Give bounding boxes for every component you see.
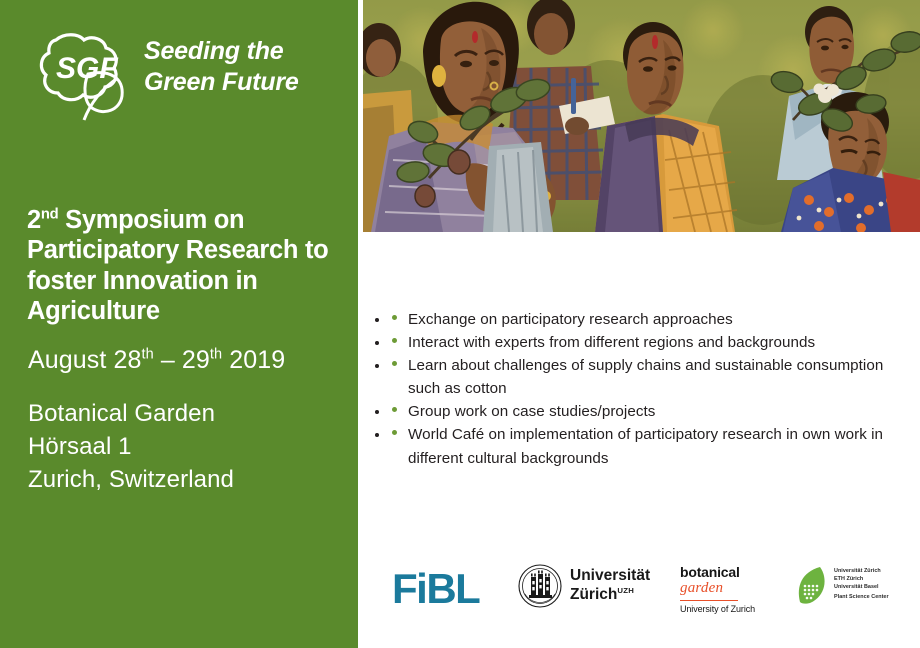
psc-center-name: Plant Science Center: [834, 594, 889, 602]
psc-wordmark: Universität Zürich ETH Zürich Universitä…: [834, 568, 889, 602]
sgf-tagline: Seeding the Green Future: [144, 36, 299, 97]
date-day-end-suffix: th: [210, 347, 222, 363]
uzh-name: Universität Zürich: [570, 567, 650, 603]
list-item: Exchange on participatory research appro…: [390, 308, 890, 331]
header-photograph: [363, 0, 920, 232]
uzh-seal-icon: [518, 564, 562, 608]
event-date: August 28th – 29th 2019: [28, 345, 348, 375]
page-title: 2nd Symposium on Participatory Research …: [27, 205, 347, 326]
uzh-wordmark: Universität ZürichUZH: [570, 567, 650, 605]
event-venue: Botanical Garden Hörsaal 1 Zurich, Switz…: [28, 398, 348, 497]
sgf-flower-leaf-icon: SGF: [26, 26, 134, 122]
date-day-start: 28: [113, 346, 141, 374]
title-rest: Symposium on Participatory Research to f…: [27, 206, 328, 325]
botanical-line-2: garden: [680, 580, 790, 597]
botanical-garden-logo: botanical garden University of Zurich: [680, 564, 790, 615]
date-day-start-suffix: th: [142, 347, 154, 363]
list-item-text: Learn about challenges of supply chains …: [408, 357, 883, 397]
psc-leaf-icon: [796, 566, 830, 604]
bullet-dot-icon: [392, 430, 397, 435]
highlights-list: Exchange on participatory research appro…: [390, 308, 890, 470]
list-item: Interact with experts from different reg…: [390, 331, 890, 354]
bullet-dot-icon: [392, 407, 397, 412]
date-month: August: [28, 346, 113, 374]
sgf-logo-block: SGF Seeding the Green Future: [26, 26, 336, 126]
botanical-line-3: University of Zurich: [680, 604, 790, 614]
list-item-text: Exchange on participatory research appro…: [408, 311, 733, 328]
uzh-abbrev: UZH: [617, 586, 634, 595]
psc-institutions: Universität Zürich ETH Zürich Universitä…: [834, 568, 881, 590]
list-item: Group work on case studies/projects: [390, 400, 890, 423]
date-day-end: 29: [182, 346, 210, 374]
title-superscript: nd: [41, 207, 58, 223]
list-item-text: Interact with experts from different reg…: [408, 334, 815, 351]
list-item-text: World Café on implementation of particip…: [408, 426, 883, 466]
symposium-poster: SGF Seeding the Green Future 2nd Symposi…: [0, 0, 920, 648]
sponsor-logos: FiBL: [388, 556, 900, 626]
date-year: 2019: [222, 346, 285, 374]
fibl-logo: FiBL: [392, 568, 479, 610]
plant-science-center-logo: Universität Zürich ETH Zürich Universitä…: [796, 566, 902, 608]
left-green-panel: SGF Seeding the Green Future 2nd Symposi…: [0, 0, 358, 648]
bullet-dot-icon: [392, 361, 397, 366]
bullet-dot-icon: [392, 315, 397, 320]
botanical-line-1: botanical: [680, 564, 790, 580]
title-prefix: 2: [27, 206, 41, 234]
list-item: Learn about challenges of supply chains …: [390, 354, 890, 400]
botanical-divider: [680, 600, 738, 602]
uzh-logo: Universität ZürichUZH: [518, 564, 678, 612]
list-item-text: Group work on case studies/projects: [408, 403, 655, 420]
bullet-dot-icon: [392, 338, 397, 343]
date-separator: –: [154, 346, 182, 374]
list-item: World Café on implementation of particip…: [390, 423, 890, 469]
